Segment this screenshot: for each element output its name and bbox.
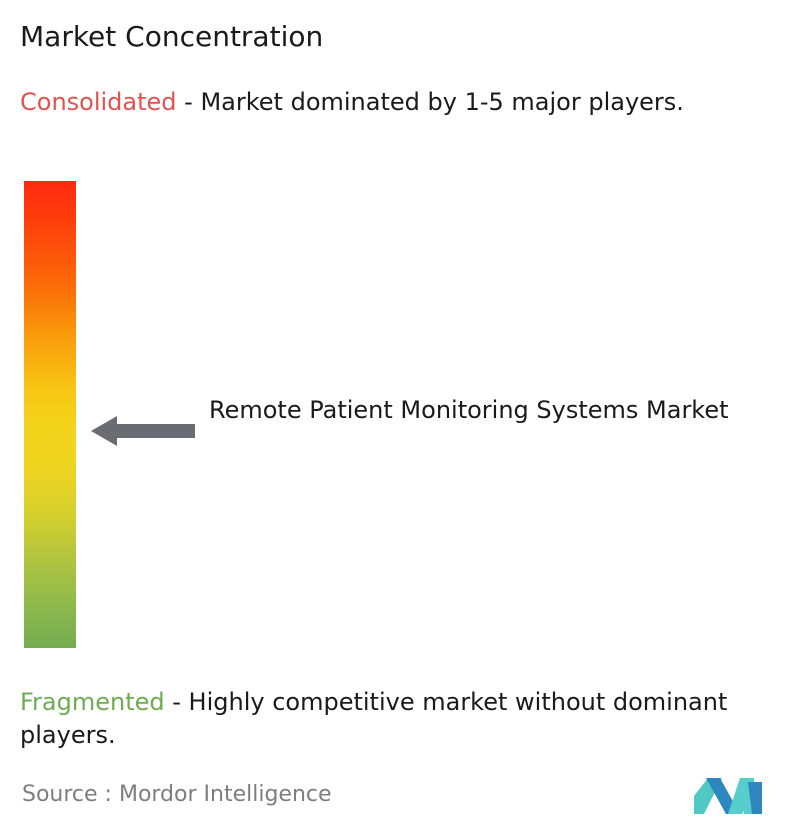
concentration-scale-bar <box>24 181 76 648</box>
legend-fragmented-key: Fragmented <box>20 688 165 716</box>
source-attribution: Source : Mordor Intelligence <box>22 780 332 810</box>
mordor-intelligence-logo-icon <box>692 774 764 822</box>
left-arrow-icon <box>91 414 195 448</box>
market-concentration-infographic: Market Concentration Consolidated - Mark… <box>0 0 796 834</box>
legend-consolidated-key: Consolidated <box>20 88 177 116</box>
legend-fragmented: Fragmented - Highly competitive market w… <box>20 686 780 752</box>
legend-consolidated: Consolidated - Market dominated by 1-5 m… <box>20 86 780 119</box>
market-pointer-label: Remote Patient Monitoring Systems Market <box>209 392 729 428</box>
page-title: Market Concentration <box>20 20 323 54</box>
legend-consolidated-description: - Market dominated by 1-5 major players. <box>177 88 684 116</box>
footer: Source : Mordor Intelligence <box>0 772 796 834</box>
market-pointer: Remote Patient Monitoring Systems Market <box>91 392 731 462</box>
